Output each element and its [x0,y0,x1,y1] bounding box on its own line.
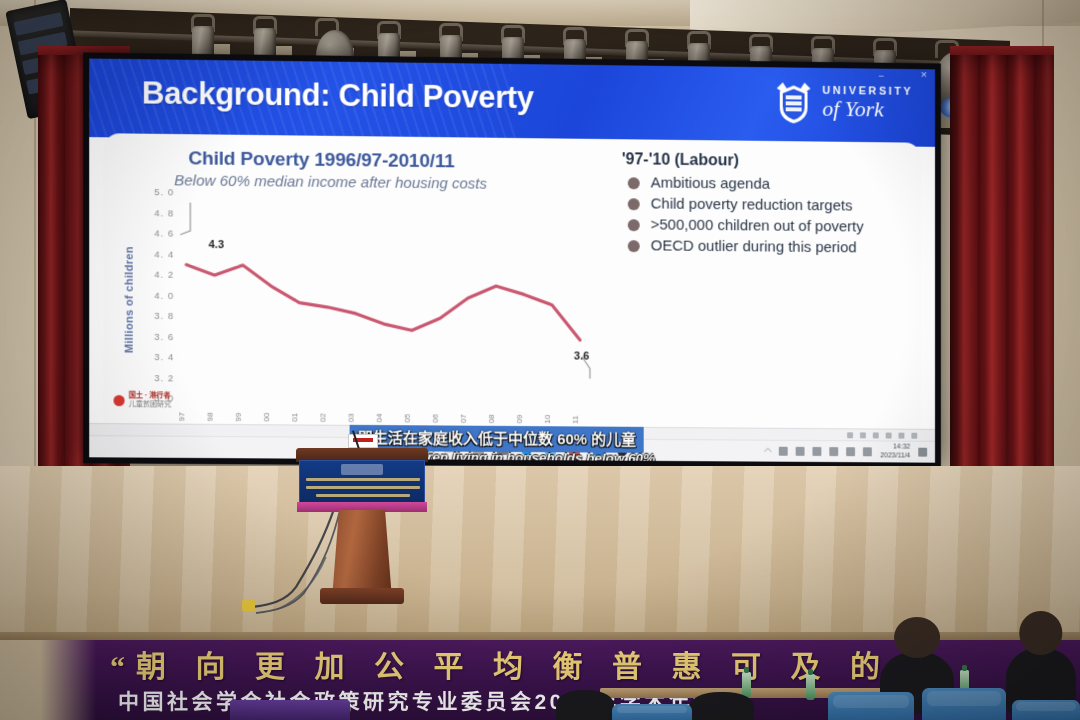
y-axis-label: Millions of children [124,246,136,353]
chart-subtitle: Below 60% median income after housing co… [174,172,487,192]
slide-title-part1: Background: [142,75,330,112]
podium-emblem-icon [341,464,383,475]
input-method-icon[interactable] [813,447,822,456]
y-axis-ticks: 5. 04. 84. 64. 44. 24. 03. 83. 63. 43. 2… [140,192,174,398]
y-axis-tick: 3. 4 [154,352,174,363]
podium-text-line [316,494,410,497]
stage-curtain-right [950,55,1054,525]
bullet-dot-icon [628,219,640,231]
y-axis-tick: 3. 8 [154,310,174,321]
data-label-start: 4.3 [209,239,224,251]
podium-front-panel [299,460,425,504]
cloud-sync-icon[interactable] [846,447,855,456]
presentation-screen: Background: Child Poverty UNIVERSITY of … [89,59,935,463]
y-axis-tick: 4. 6 [154,228,174,239]
ppt-view-icon[interactable] [886,432,892,438]
podium-base [320,588,404,604]
close-icon[interactable]: × [921,69,927,81]
ppt-view-icon[interactable] [873,432,879,438]
audience-member [556,690,614,720]
notes-bullet-item: Ambitious agenda [628,174,935,194]
chart-plot-area: 4.3 3.6 [178,192,598,401]
name-placard [348,434,378,448]
page-title: Background: Child Poverty [142,75,534,116]
slide-title-part2: Child Poverty [339,78,534,115]
notification-icon[interactable] [918,448,927,457]
ppt-zoom-icon[interactable] [899,432,905,438]
y-axis-tick: 4. 8 [154,207,174,218]
podium-text-line [306,478,420,481]
york-crest-icon [774,79,814,125]
brand-text: 国土 · 港行者 儿童贫困研究 [129,392,171,409]
ppt-view-icon[interactable] [847,432,853,438]
y-axis-tick: 4. 0 [154,290,174,301]
y-axis-tick: 3. 2 [154,372,174,383]
system-tray: 14:32 2023/11/4 [765,443,927,460]
auditorium-seat [1012,700,1080,720]
brand-name: 国土 · 港行者 [129,392,171,401]
york-logo-line2: of York [822,98,913,121]
auditorium-seat [612,704,692,720]
y-axis-tick: 5. 0 [154,187,174,198]
ppt-view-icon[interactable] [860,432,866,438]
presentation-watermark: 国土 · 港行者 儿童贫困研究 [114,392,172,409]
notes-bullet-text: Ambitious agenda [651,174,770,192]
water-bottle [806,674,815,700]
notes-bullet-text: >500,000 children out of poverty [651,216,864,235]
foreground-banner-edge [230,700,350,720]
conference-hall-photo: Background: Child Poverty UNIVERSITY of … [0,0,1080,720]
notes-bullet-text: Child poverty reduction targets [651,195,853,214]
clock-date: 2023/11/4 [880,452,910,460]
slide-content-card: Child Poverty 1996/97-2010/11 Below 60% … [103,133,921,441]
bullet-dot-icon [628,198,640,210]
show-hidden-icons-chevron[interactable] [764,447,772,455]
auditorium-seat [922,688,1006,720]
banner-headline: “朝 向 更 加 公 平 均 衡 普 惠 可 及 的 [110,642,1010,686]
projection-screen-frame: Background: Child Poverty UNIVERSITY of … [83,52,941,468]
water-bottle [742,672,751,698]
taskbar-clock[interactable]: 14:32 2023/11/4 [880,444,910,460]
battery-icon[interactable] [830,447,839,456]
brand-subtitle: 儿童贫困研究 [129,401,171,410]
clock-time: 14:32 [880,444,910,452]
podium-column [330,510,394,592]
speaker-podium [296,448,428,618]
auditorium-seat [828,692,914,720]
podium-text-line [306,486,420,489]
notes-bullet-list: Ambitious agendaChild poverty reduction … [622,174,935,257]
y-axis-tick: 4. 4 [154,248,174,259]
notes-bullet-text: OECD outlier during this period [651,237,857,256]
volume-icon[interactable] [796,447,805,456]
network-icon[interactable] [779,447,788,456]
y-axis-tick: 4. 2 [154,269,174,280]
chart-line-svg [178,192,598,401]
labour-period-notes: '97-'10 (Labour) Ambitious agendaChild p… [622,151,935,261]
bullet-dot-icon [628,177,640,189]
minimize-icon[interactable]: – [879,71,884,81]
ppt-fit-slide-icon[interactable] [911,432,917,438]
antivirus-icon[interactable] [863,447,872,456]
banner-left-edge [0,640,96,720]
bullet-dot-icon [628,240,640,252]
york-wordmark: UNIVERSITY of York [822,86,913,121]
chart-title: Child Poverty 1996/97-2010/11 [188,148,454,173]
audience-member [690,692,754,720]
cable-connector [242,600,255,611]
child-poverty-line-chart: Millions of children 5. 04. 84. 64. 44. … [126,192,598,447]
notes-bullet-item: Child poverty reduction targets [628,195,935,215]
notes-bullet-item: >500,000 children out of poverty [628,216,935,236]
brand-logo-icon [114,395,125,406]
notes-bullet-item: OECD outlier during this period [628,237,935,257]
notes-heading: '97-'10 (Labour) [622,151,935,173]
university-of-york-logo: UNIVERSITY of York [774,79,913,126]
y-axis-tick: 3. 6 [154,331,174,342]
data-label-end: 3.6 [574,350,589,362]
